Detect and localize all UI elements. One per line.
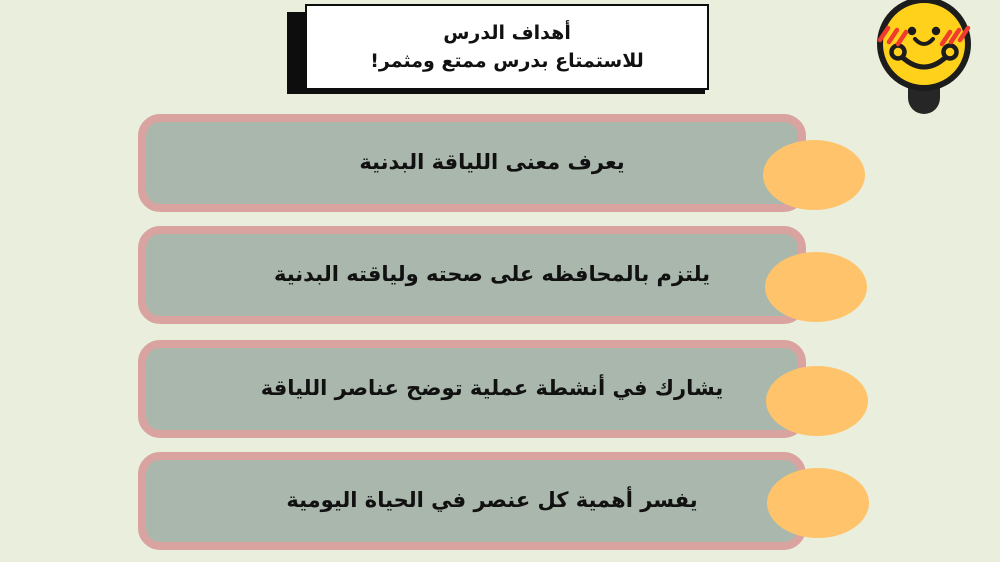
objective-row[interactable]: يلتزم بالمحافظه على صحته ولياقته البدنية — [138, 226, 806, 324]
objective-bullet-ellipse — [763, 140, 865, 210]
objective-text: يعرف معنى اللياقة البدنية — [273, 149, 670, 176]
slide-canvas: أهداف الدرس للاستمتاع بدرس ممتع ومثمر! — [0, 0, 1000, 562]
objective-row[interactable]: يشارك في أنشطة عملية توضح عناصر اللياقة — [138, 340, 806, 438]
objective-bullet-ellipse — [767, 468, 869, 538]
objective-row[interactable]: يفسر أهمية كل عنصر في الحياة اليومية — [138, 452, 806, 550]
objectives-list: يعرف معنى اللياقة البدنية يلتزم بالمحافظ… — [0, 0, 1000, 562]
objective-row[interactable]: يعرف معنى اللياقة البدنية — [138, 114, 806, 212]
objective-text: يلتزم بالمحافظه على صحته ولياقته البدنية — [188, 261, 756, 288]
objective-text: يشارك في أنشطة عملية توضح عناصر اللياقة — [175, 375, 770, 402]
objective-bullet-ellipse — [765, 252, 867, 322]
objective-text: يفسر أهمية كل عنصر في الحياة اليومية — [200, 487, 743, 514]
objective-bullet-ellipse — [766, 366, 868, 436]
